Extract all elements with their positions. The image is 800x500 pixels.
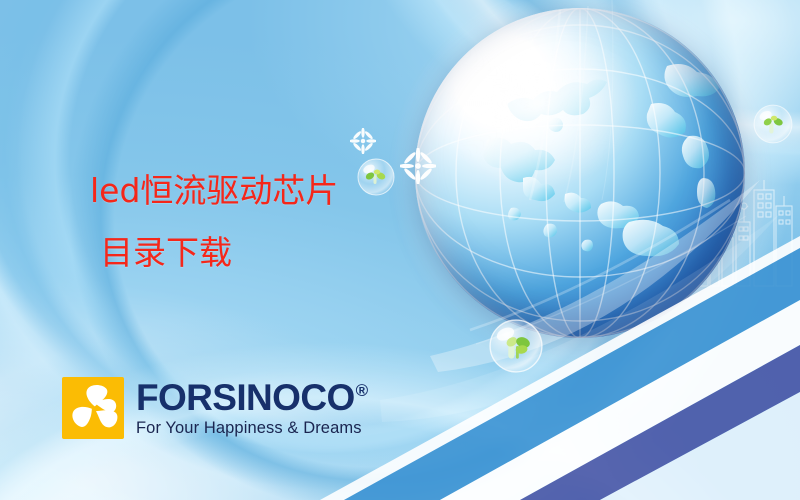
bubble-sprout-icon <box>752 103 794 145</box>
slide-canvas: led恒流驱动芯片 目录下载 FORSINOCO® For Your Happi… <box>0 0 800 500</box>
logo-company-name: FORSINOCO® <box>136 379 368 416</box>
logo-mark <box>62 377 124 439</box>
flower-icon <box>350 128 376 154</box>
logo-tagline: For Your Happiness & Dreams <box>136 420 368 437</box>
brand-logo: FORSINOCO® For Your Happiness & Dreams <box>62 377 368 439</box>
bubble-sprout-icon <box>488 318 544 374</box>
logo-text-block: FORSINOCO® For Your Happiness & Dreams <box>136 379 368 437</box>
four-petal-flower-icon <box>62 377 124 439</box>
logo-company-name-text: FORSINOCO <box>136 379 355 416</box>
headline-line-2: 目录下载 <box>58 222 418 284</box>
registered-trademark-mark: ® <box>356 382 368 399</box>
slide-headline: led恒流驱动芯片 目录下载 <box>58 160 418 284</box>
headline-line-1: led恒流驱动芯片 <box>58 160 418 222</box>
